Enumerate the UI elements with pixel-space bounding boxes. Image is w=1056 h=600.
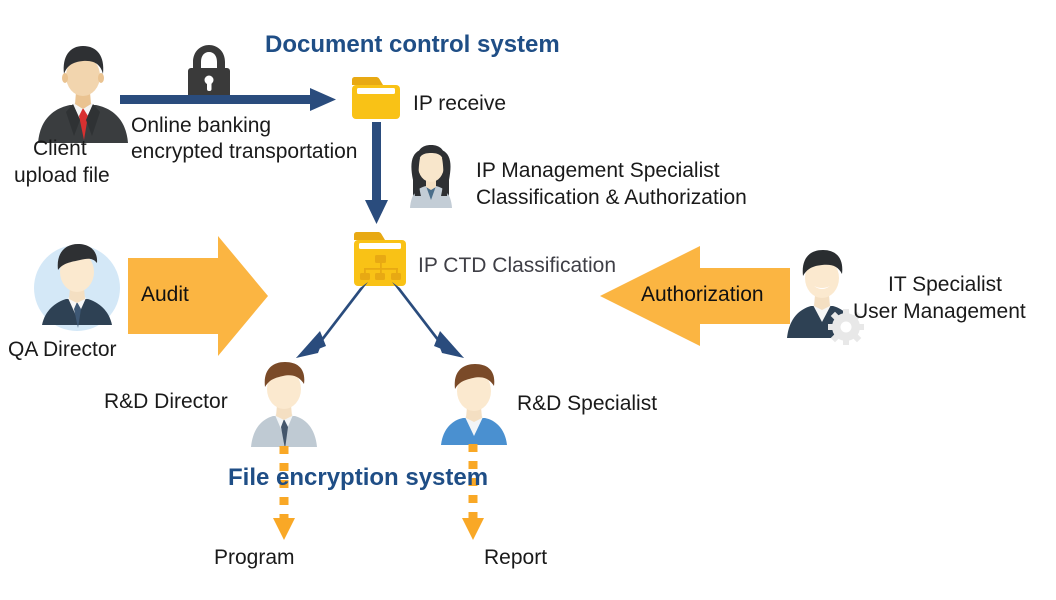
program-label: Program <box>214 545 295 571</box>
ip-management-specialist-label-line1: IP Management Specialist <box>476 158 720 184</box>
director-to-program-arrow <box>273 446 295 540</box>
specialist-to-report-arrow <box>462 444 484 540</box>
user-gear-icon <box>787 250 864 345</box>
diagram-canvas: Document control system File encryption … <box>0 0 1056 600</box>
rd-director-label: R&D Director <box>104 389 228 415</box>
ip-management-specialist-label-line2: Classification & Authorization <box>476 185 747 211</box>
rd-specialist-label: R&D Specialist <box>517 391 657 417</box>
folder-icon <box>352 77 400 119</box>
classification-to-specialist-arrow <box>392 282 464 358</box>
ip-receive-label: IP receive <box>413 91 506 117</box>
avatar-circle-icon <box>34 244 120 331</box>
page-title-document-control-system: Document control system <box>265 31 560 59</box>
it-specialist-label-line2: User Management <box>853 299 1026 325</box>
classification-to-director-arrow <box>296 282 368 358</box>
person-shirt-tie-icon <box>251 362 317 449</box>
client-label-line2: upload file <box>14 163 110 189</box>
ip-ctd-classification-label: IP CTD Classification <box>418 253 616 279</box>
upload-arrow-label-line2: encrypted transportation <box>131 139 357 165</box>
businesswoman-icon <box>410 145 452 208</box>
person-blue-shirt-icon <box>441 364 507 445</box>
report-label: Report <box>484 545 547 571</box>
page-title-file-encryption-system: File encryption system <box>228 464 488 492</box>
lock-icon <box>188 45 230 101</box>
businessman-icon <box>38 46 128 143</box>
upload-arrow-label-line1: Online banking <box>131 113 271 139</box>
audit-arrow-label: Audit <box>141 283 189 307</box>
receive-to-classification-arrow <box>365 122 388 224</box>
client-label-line1: Client <box>33 136 87 162</box>
authorization-arrow-label: Authorization <box>641 283 764 307</box>
folder-hierarchy-icon <box>354 232 406 286</box>
qa-director-label: QA Director <box>8 337 117 363</box>
it-specialist-label-line1: IT Specialist <box>888 272 1002 298</box>
